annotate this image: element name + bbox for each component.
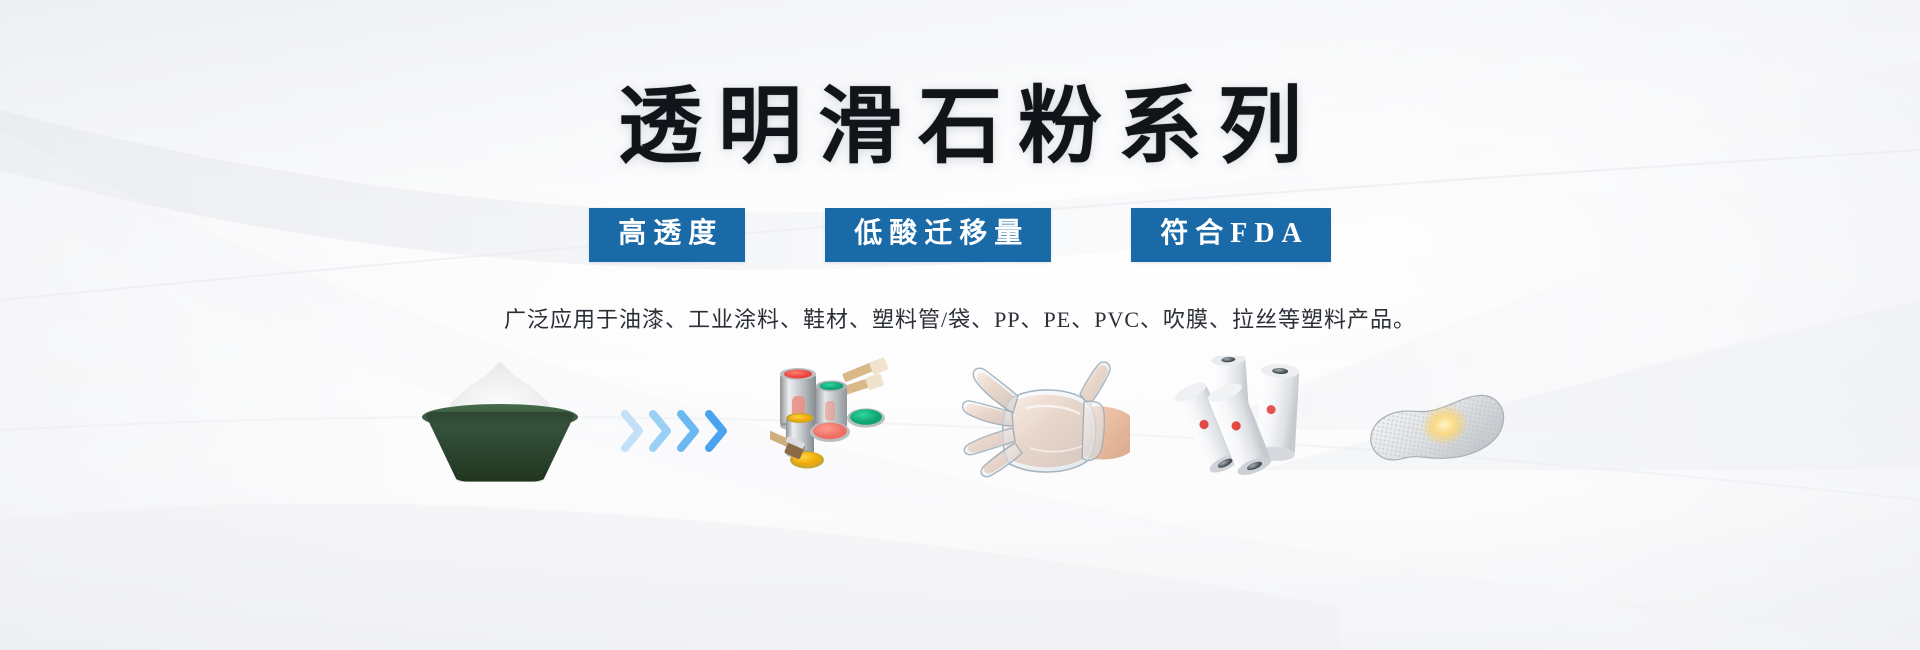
feature-badge-list: 高透度 低酸迁移量 符合FDA [589,208,1331,262]
chevron-right-icon [648,409,674,453]
product-image-plastic-glove-hand [960,356,1130,506]
description-text: 广泛应用于油漆、工业涂料、鞋材、塑料管/袋、PP、PE、PVC、吹膜、拉丝等塑料… [504,302,1416,334]
product-image-film-rolls [1160,356,1330,506]
banner-content: 透明滑石粉系列 高透度 低酸迁移量 符合FDA 广泛应用于油漆、工业涂料、鞋材、… [0,0,1920,650]
application-image-strip [410,356,1510,506]
feature-badge-low-acid-migration: 低酸迁移量 [825,208,1051,262]
product-image-talc-powder-bowl [410,356,590,506]
gloved-hand-illustration [960,356,1130,506]
film-rolls-illustration [1160,356,1330,506]
page-title: 透明滑石粉系列 [602,86,1318,170]
product-image-paint-cans [770,356,930,506]
product-banner: 透明滑石粉系列 高透度 低酸迁移量 符合FDA 广泛应用于油漆、工业涂料、鞋材、… [0,0,1920,650]
chevron-right-icon [704,409,730,453]
plastic-glove-overlay [963,362,1110,477]
process-arrow-group [620,356,740,506]
shoe-sole-illustration [1360,356,1510,506]
product-image-shoe-sole [1360,356,1510,506]
bowl-body [424,412,576,482]
talc-bowl-illustration [410,356,590,506]
paint-cans-illustration [770,356,930,506]
feature-badge-high-transparency: 高透度 [589,208,745,262]
chevron-right-icon [620,409,646,453]
chevron-right-icon [676,409,702,453]
feature-badge-fda-compliant: 符合FDA [1131,208,1331,262]
